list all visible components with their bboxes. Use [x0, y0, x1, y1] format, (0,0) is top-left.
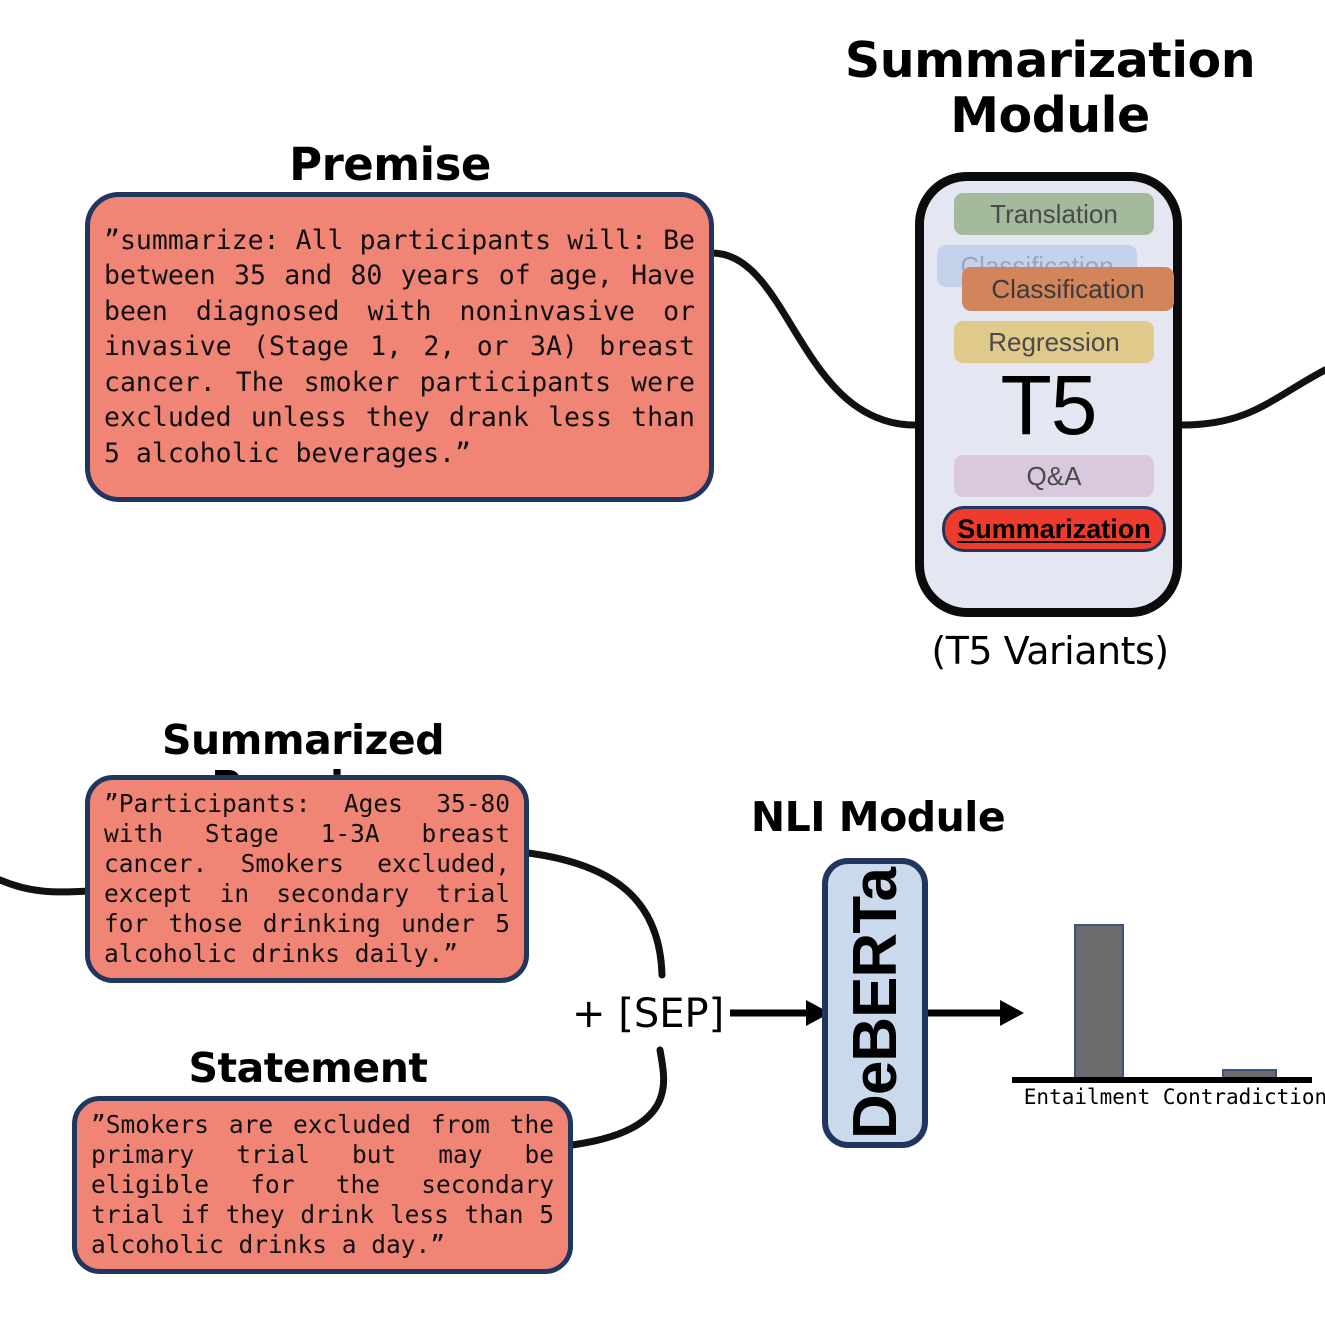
statement-title: Statement	[88, 1046, 528, 1092]
connector-statement-to-sep	[572, 1050, 664, 1145]
chip-translation-label: Translation	[990, 199, 1118, 230]
t5-variants-caption: (T5 Variants)	[890, 630, 1210, 673]
chip-regression-label: Regression	[988, 327, 1120, 358]
summarized-premise-box: ”Participants: Ages 35-80 with Stage 1-3…	[85, 775, 529, 983]
t5-phone-frame: Translation Classification Classificatio…	[915, 172, 1182, 617]
summarization-module-title: Summarization Module	[840, 34, 1260, 144]
chip-summarization[interactable]: Summarization	[942, 506, 1166, 552]
connector-t5-exit	[1182, 370, 1325, 425]
deberta-label: DeBERTa	[840, 868, 911, 1139]
chart-baseline-axis	[1012, 1077, 1312, 1083]
nli-output-bar-chart	[1012, 905, 1312, 1080]
t5-model-name: T5	[924, 363, 1173, 447]
statement-box: ”Smokers are excluded from the primary t…	[72, 1096, 573, 1274]
chip-regression[interactable]: Regression	[954, 321, 1154, 363]
chip-classification-label: Classification	[991, 274, 1144, 305]
connector-summarized-premise-to-sep	[528, 853, 662, 975]
bar-label-entailment: Entailment	[1002, 1085, 1172, 1109]
chip-classification[interactable]: Classification	[962, 267, 1174, 311]
sep-token: + [SEP]	[572, 991, 724, 1037]
summarized-premise-text: ”Participants: Ages 35-80 with Stage 1-3…	[90, 789, 524, 969]
bar-label-contradiction: Contradiction	[1155, 1085, 1325, 1109]
nli-module-title: NLI Module	[728, 795, 1028, 841]
statement-text: ”Smokers are excluded from the primary t…	[77, 1110, 568, 1260]
chip-qa[interactable]: Q&A	[954, 455, 1154, 497]
premise-title: Premise	[190, 140, 590, 190]
bar-entailment	[1074, 924, 1124, 1080]
connector-premise-to-t5	[712, 253, 915, 425]
premise-box: ”summarize: All participants will: Be be…	[85, 192, 714, 502]
chip-translation[interactable]: Translation	[954, 193, 1154, 235]
chip-qa-label: Q&A	[1027, 461, 1082, 492]
diagram-canvas: Summarization Module Premise ”summarize:…	[0, 0, 1325, 1327]
connector-into-summarized-premise	[0, 880, 90, 892]
premise-text: ”summarize: All participants will: Be be…	[90, 223, 709, 472]
deberta-box: DeBERTa	[822, 858, 928, 1148]
chip-summarization-label: Summarization	[957, 514, 1151, 545]
